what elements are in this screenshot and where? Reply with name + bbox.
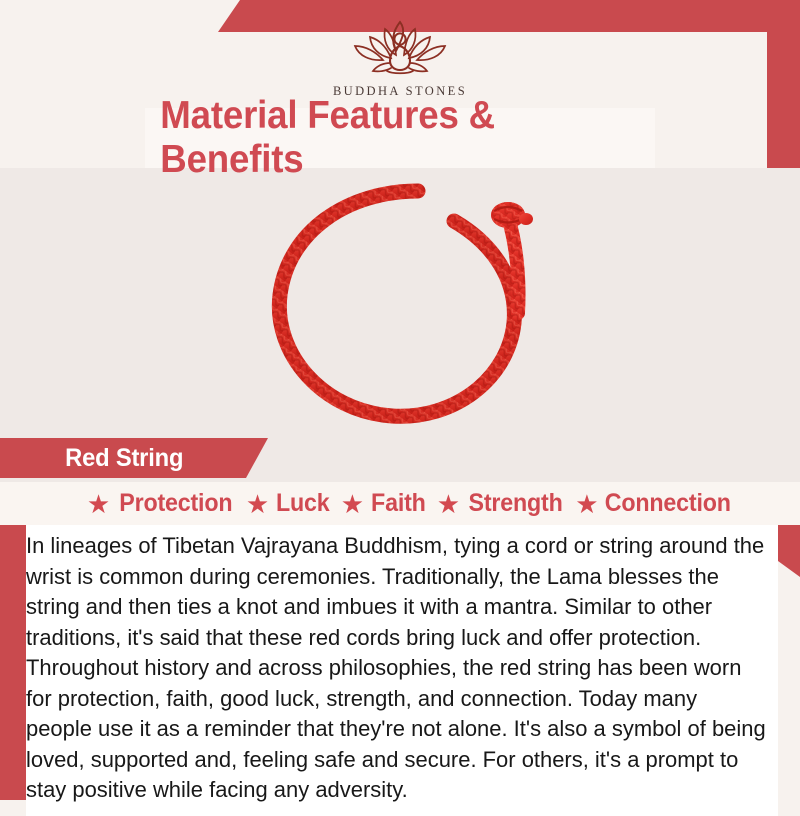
benefit-label: Strength (469, 489, 563, 518)
benefit-item-connection: ★ Connection (575, 489, 735, 518)
red-braided-cord-bracelet (240, 173, 570, 433)
benefit-label: Luck (276, 489, 330, 518)
benefit-label: Connection (604, 489, 730, 518)
description-paragraph: In lineages of Tibetan Vajrayana Buddhis… (26, 531, 767, 806)
ribbon-row: Red String (0, 438, 800, 482)
brand-header: BUDDHA STONES (0, 0, 800, 99)
benefit-label: Protection (119, 489, 232, 518)
benefits-row: ★ Protection ★ Luck ★ Faith ★ Strength ★… (0, 482, 800, 525)
product-name-ribbon: Red String (0, 438, 268, 478)
benefit-item-protection: ★ Protection (87, 489, 237, 518)
ribbon-label: Red String (65, 444, 183, 473)
star-icon: ★ (575, 491, 598, 517)
lotus-meditation-icon (339, 13, 461, 81)
star-icon: ★ (246, 491, 269, 517)
page-title: Material Features & Benefits (160, 94, 639, 182)
title-banner: Material Features & Benefits (145, 108, 655, 168)
benefit-label: Faith (371, 489, 426, 518)
star-icon: ★ (87, 491, 110, 517)
benefit-item-strength: ★ Strength (437, 489, 566, 518)
description-block: In lineages of Tibetan Vajrayana Buddhis… (26, 525, 778, 816)
star-icon: ★ (437, 491, 460, 517)
benefit-item-faith: ★ Faith (341, 489, 428, 518)
star-icon: ★ (341, 491, 364, 517)
benefit-item-luck: ★ Luck (246, 489, 332, 518)
product-image-area (0, 168, 800, 438)
